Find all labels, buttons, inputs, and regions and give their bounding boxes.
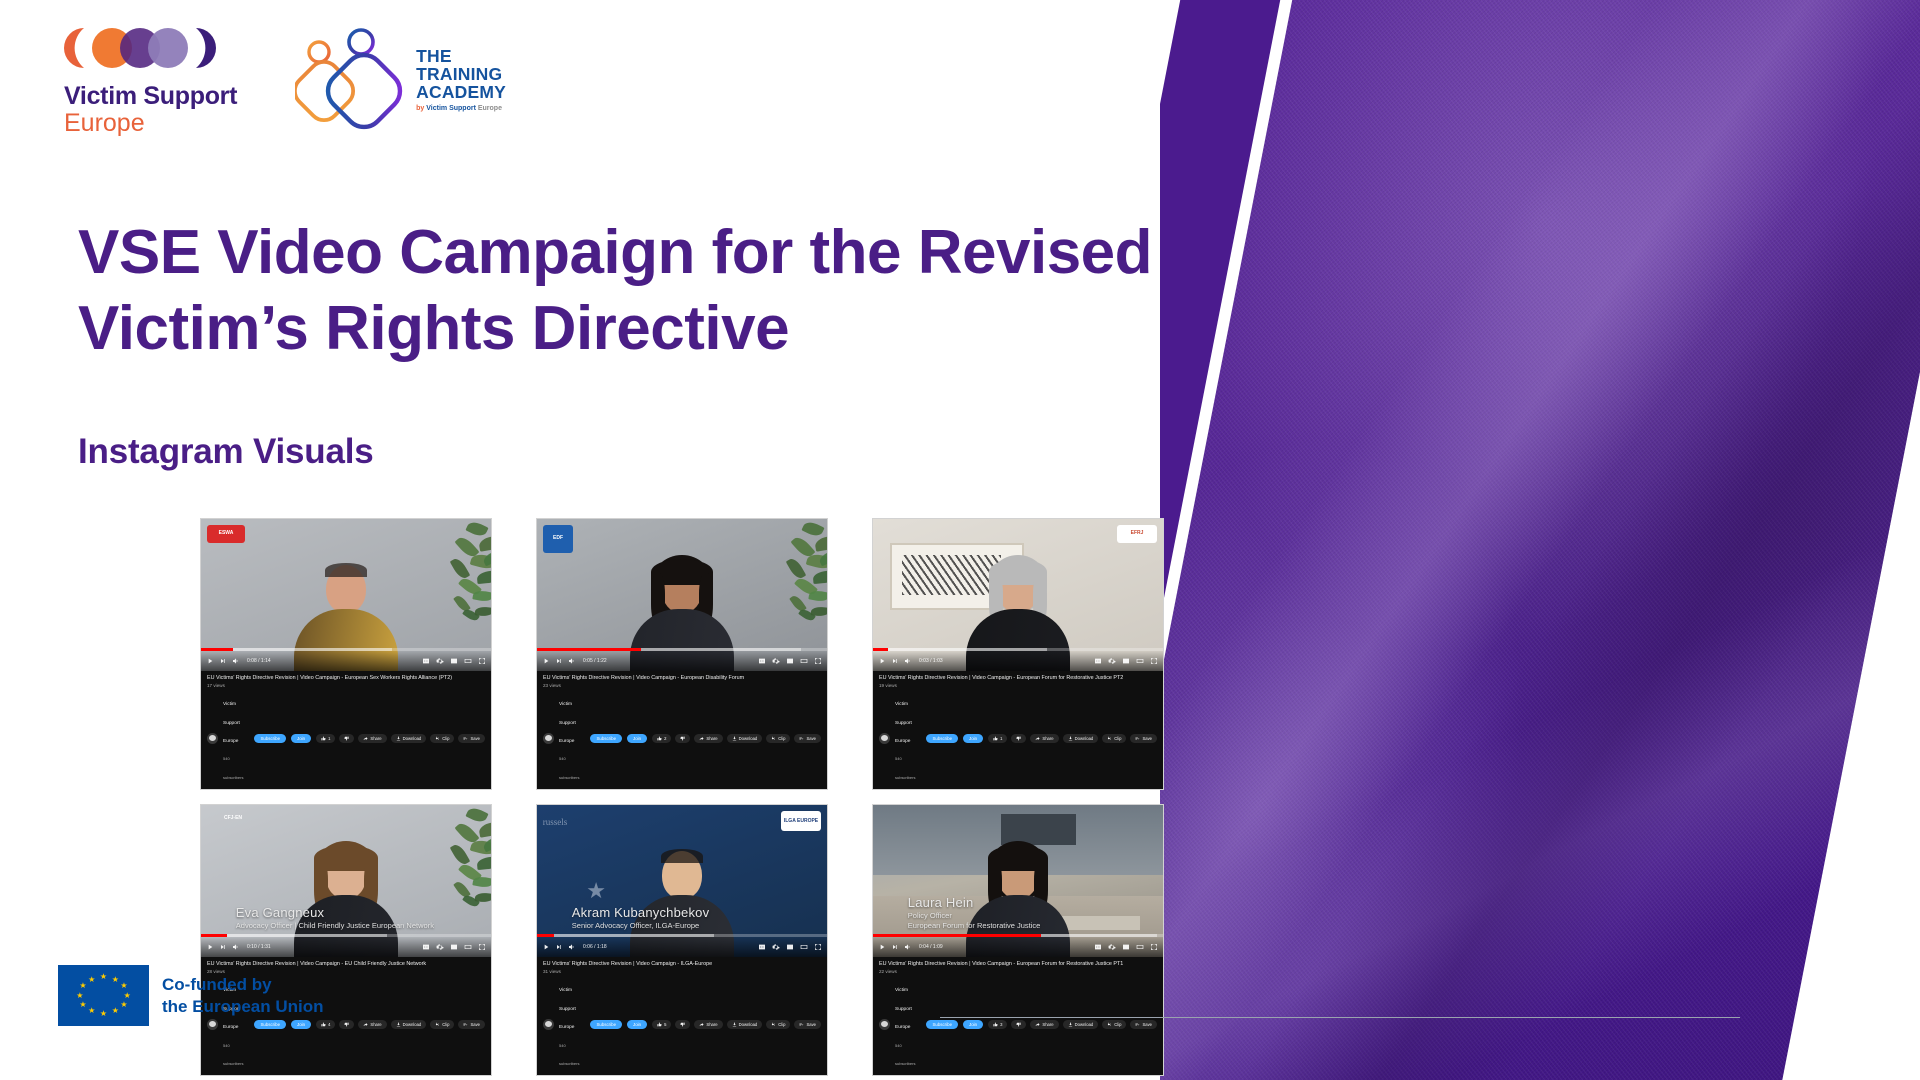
video-controls-right[interactable] [422, 943, 486, 951]
thumbs-down-icon [680, 1022, 685, 1027]
speaker-role-line: Policy Officer [908, 911, 1041, 920]
share-button[interactable]: Share [1030, 1020, 1058, 1029]
ta-byline-suffix: Europe [476, 105, 502, 112]
like-button[interactable]: 3 [988, 1020, 1007, 1029]
video-controls-right[interactable] [758, 657, 822, 665]
download-icon [732, 736, 737, 741]
save-button[interactable]: Save [794, 1020, 821, 1029]
share-button[interactable]: Share [358, 734, 386, 743]
video-thumbnail-grid: ESWA 0:08 / 1:14 EU Victims [200, 518, 1164, 1076]
download-button[interactable]: Download [391, 1020, 427, 1029]
save-button[interactable]: Save [1130, 1020, 1157, 1029]
theater-mode-icon[interactable] [800, 943, 808, 951]
subscribe-button[interactable]: Subscribe [926, 1020, 958, 1029]
video-view-count: 17 views [207, 683, 485, 688]
video-action-bar[interactable]: Victim Support Europe 540 subscribers Su… [873, 690, 1163, 789]
channel-avatar[interactable] [879, 733, 890, 744]
channel-info[interactable]: Victim Support Europe 540 subscribers [223, 692, 249, 784]
theater-mode-icon[interactable] [800, 657, 808, 665]
channel-subscriber-count: 540 subscribers [895, 1043, 915, 1066]
volume-icon[interactable] [568, 657, 576, 665]
video-timestamp: 0:04 / 1:09 [919, 944, 943, 950]
share-icon [363, 736, 368, 741]
partner-org-badge: ILGA EUROPE [781, 811, 821, 831]
video-action-bar[interactable]: Victim Support Europe 540 subscribers Su… [537, 976, 827, 1075]
video-action-bar[interactable]: Victim Support Europe 540 subscribers Su… [873, 976, 1163, 1075]
channel-info[interactable]: Victim Support Europe 540 subscribers [559, 692, 585, 784]
eu-star-icon: ★ [120, 1001, 127, 1009]
speaker-role-line: Advocacy Officer | Child Friendly Justic… [236, 921, 434, 930]
eu-star-icon: ★ [79, 982, 86, 990]
volume-icon[interactable] [232, 657, 240, 665]
next-icon[interactable] [891, 657, 899, 665]
like-button[interactable]: 1 [988, 734, 1007, 743]
captions-icon[interactable] [1094, 943, 1102, 951]
video-card[interactable]: EDF 0:05 / 1:22 EU Victims’ [536, 518, 828, 790]
eu-star-icon: ★ [76, 992, 83, 1000]
video-title[interactable]: EU Victims’ Rights Directive Revision | … [543, 961, 821, 968]
share-button[interactable]: Share [694, 1020, 722, 1029]
captions-icon[interactable] [1094, 657, 1102, 665]
victim-support-europe-logo: Victim Support Europe [64, 24, 237, 137]
video-title[interactable]: EU Victims’ Rights Directive Revision | … [879, 675, 1157, 682]
share-icon [1035, 1022, 1040, 1027]
eu-star-icon: ★ [112, 976, 119, 984]
settings-gear-icon[interactable] [1108, 943, 1116, 951]
logo-row: Victim Support Europe THE TRAININ [64, 24, 506, 137]
video-timestamp: 0:06 / 1:18 [583, 944, 607, 950]
dislike-button[interactable] [1011, 734, 1026, 743]
miniplayer-icon[interactable] [1122, 657, 1130, 665]
training-academy-logo: THE TRAINING ACADEMY by Victim Support E… [295, 26, 506, 134]
dislike-button[interactable] [675, 1020, 690, 1029]
join-button[interactable]: Join [291, 734, 311, 743]
clip-icon [771, 736, 776, 741]
ta-byline-prefix: by [416, 105, 426, 112]
settings-gear-icon[interactable] [772, 943, 780, 951]
fullscreen-icon[interactable] [814, 657, 822, 665]
video-title[interactable]: EU Victims’ Rights Directive Revision | … [543, 675, 821, 682]
save-icon [1135, 736, 1140, 741]
page-subtitle: Instagram Visuals [78, 432, 374, 472]
share-button[interactable]: Share [694, 734, 722, 743]
join-button[interactable]: Join [627, 734, 647, 743]
dislike-button[interactable] [339, 734, 354, 743]
channel-subscriber-count: 540 subscribers [223, 756, 243, 779]
fullscreen-icon[interactable] [478, 657, 486, 665]
share-button[interactable]: Share [1030, 734, 1058, 743]
video-controls-right[interactable] [422, 657, 486, 665]
channel-name: Victim Support Europe [559, 988, 576, 1030]
eu-cofunding-logo: ★★★★★★★★★★★★ Co-funded by the European U… [58, 965, 324, 1026]
clip-button[interactable]: Clip [430, 1020, 454, 1029]
clip-button[interactable]: Clip [766, 1020, 790, 1029]
play-icon[interactable] [878, 657, 886, 665]
partner-org-badge: ESWA [207, 525, 245, 543]
video-controls-row[interactable]: 0:06 / 1:18 [537, 937, 827, 957]
video-card[interactable]: CFJ-EN Eva GangneuxAdvocacy Officer | Ch… [200, 804, 492, 1076]
band-accent-stripe [1160, 0, 1288, 1080]
fullscreen-icon[interactable] [1150, 657, 1158, 665]
training-academy-mark-icon [295, 26, 407, 134]
channel-name: Victim Support Europe [559, 702, 576, 744]
eu-star-icon: ★ [88, 976, 95, 984]
eu-star-icon: ★ [120, 982, 127, 990]
speaker-role-line: European Forum for Restorative Justice [908, 921, 1041, 930]
miniplayer-icon[interactable] [450, 657, 458, 665]
speaker-name-overlay: Akram KubanychbekovSenior Advocacy Offic… [572, 905, 709, 930]
save-icon [463, 736, 468, 741]
share-icon [363, 1022, 368, 1027]
join-button[interactable]: Join [627, 1020, 647, 1029]
next-icon[interactable] [891, 943, 899, 951]
fullscreen-icon[interactable] [814, 943, 822, 951]
channel-info[interactable]: Victim Support Europe 540 subscribers [559, 978, 585, 1070]
channel-name: Victim Support Europe [895, 988, 912, 1030]
channel-info[interactable]: Victim Support Europe 540 subscribers [895, 978, 921, 1070]
video-view-count: 19 views [879, 683, 1157, 688]
settings-gear-icon[interactable] [436, 943, 444, 951]
channel-avatar[interactable] [543, 733, 554, 744]
fullscreen-icon[interactable] [1150, 943, 1158, 951]
captions-icon[interactable] [422, 943, 430, 951]
video-controls-row[interactable]: 0:03 / 1:03 [873, 651, 1163, 671]
save-button[interactable]: Save [458, 1020, 485, 1029]
play-icon[interactable] [542, 657, 550, 665]
training-academy-wordmark: THE TRAINING ACADEMY by Victim Support E… [416, 48, 506, 112]
video-action-right[interactable]: 5 Share Download Clip Save [652, 1020, 821, 1029]
video-meta: EU Victims’ Rights Directive Revision | … [201, 671, 491, 690]
share-icon [699, 736, 704, 741]
next-icon[interactable] [219, 943, 227, 951]
thumbs-up-icon [321, 736, 326, 741]
download-button[interactable]: Download [727, 734, 763, 743]
video-controls-row[interactable]: 0:05 / 1:22 [537, 651, 827, 671]
clip-button[interactable]: Clip [430, 734, 454, 743]
thumbs-down-icon [344, 1022, 349, 1027]
eu-star-icon: ★ [79, 1001, 86, 1009]
video-meta: EU Victims’ Rights Directive Revision | … [873, 671, 1163, 690]
channel-name: Victim Support Europe [895, 702, 912, 744]
play-icon[interactable] [542, 943, 550, 951]
eu-star-icon: ★ [88, 1007, 95, 1015]
volume-icon[interactable] [232, 943, 240, 951]
partner-org-badge: CFJ-EN [207, 811, 259, 825]
speaker-name: Eva Gangneux [236, 905, 434, 920]
eu-text-line2: the European Union [162, 996, 324, 1018]
video-player-stage[interactable]: ESWA 0:08 / 1:14 [201, 519, 491, 671]
speaker-hair-top [325, 563, 367, 577]
ta-byline-brand: Victim Support [426, 105, 476, 112]
subscribe-button[interactable]: Subscribe [254, 734, 286, 743]
clip-icon [1107, 1022, 1112, 1027]
download-button[interactable]: Download [727, 1020, 763, 1029]
video-timestamp: 0:08 / 1:14 [247, 658, 271, 664]
band-fabric-panel [1160, 0, 1920, 1080]
save-icon [463, 1022, 468, 1027]
volume-icon[interactable] [568, 943, 576, 951]
next-icon[interactable] [219, 657, 227, 665]
join-button[interactable]: Join [963, 1020, 983, 1029]
eu-flag-icon: ★★★★★★★★★★★★ [58, 965, 149, 1026]
video-meta: EU Victims’ Rights Directive Revision | … [537, 671, 827, 690]
next-icon[interactable] [555, 943, 563, 951]
eu-text-line1: Co-funded by [162, 974, 324, 996]
save-button[interactable]: Save [794, 734, 821, 743]
channel-avatar[interactable] [879, 1019, 890, 1030]
clip-icon [1107, 736, 1112, 741]
video-player-stage[interactable]: EDF 0:05 / 1:22 [537, 519, 827, 671]
like-button[interactable]: 1 [316, 734, 335, 743]
ta-line3: ACADEMY [416, 84, 506, 102]
dislike-button[interactable] [675, 734, 690, 743]
video-card[interactable]: russels★ILGA EUROPE Akram KubanychbekovS… [536, 804, 828, 1076]
miniplayer-icon[interactable] [1122, 943, 1130, 951]
video-player-stage[interactable]: Laura HeinPolicy OfficerEuropean Forum f… [873, 805, 1163, 957]
video-timestamp: 0:03 / 1:03 [919, 658, 943, 664]
clip-icon [435, 736, 440, 741]
subscribe-button[interactable]: Subscribe [926, 734, 958, 743]
theater-mode-icon[interactable] [464, 943, 472, 951]
clip-button[interactable]: Clip [766, 734, 790, 743]
thumbs-up-icon [993, 736, 998, 741]
theater-mode-icon[interactable] [464, 657, 472, 665]
save-icon [799, 1022, 804, 1027]
settings-gear-icon[interactable] [1108, 657, 1116, 665]
miniplayer-icon[interactable] [450, 943, 458, 951]
play-icon[interactable] [206, 657, 214, 665]
thumbs-up-icon [657, 736, 662, 741]
speaker-role-line: Senior Advocacy Officer, ILGA-Europe [572, 921, 709, 930]
channel-info[interactable]: Victim Support Europe 540 subscribers [895, 692, 921, 784]
thumbs-up-icon [993, 1022, 998, 1027]
eu-star-icon: ★ [112, 1007, 119, 1015]
video-timestamp: 0:05 / 1:22 [583, 658, 607, 664]
speaker-name: Akram Kubanychbekov [572, 905, 709, 920]
video-meta: EU Victims’ Rights Directive Revision | … [873, 957, 1163, 976]
clip-button[interactable]: Clip [1102, 734, 1126, 743]
save-icon [1135, 1022, 1140, 1027]
theater-mode-icon[interactable] [1136, 943, 1144, 951]
captions-icon[interactable] [758, 657, 766, 665]
download-button[interactable]: Download [1063, 734, 1099, 743]
video-controls-row[interactable]: 0:04 / 1:09 [873, 937, 1163, 957]
video-card[interactable]: EFRJ 0:03 / 1:03 EU Victims [872, 518, 1164, 790]
subscribe-button[interactable]: Subscribe [590, 1020, 622, 1029]
video-player-stage[interactable]: russels★ILGA EUROPE Akram KubanychbekovS… [537, 805, 827, 957]
download-icon [1068, 736, 1073, 741]
thumbs-up-icon [657, 1022, 662, 1027]
share-icon [1035, 736, 1040, 741]
vse-mark-icon [64, 24, 232, 72]
like-button[interactable]: 2 [652, 734, 671, 743]
clip-icon [435, 1022, 440, 1027]
channel-subscriber-count: 540 subscribers [559, 1043, 579, 1066]
clip-icon [771, 1022, 776, 1027]
video-controls-right[interactable] [1094, 657, 1158, 665]
settings-gear-icon[interactable] [772, 657, 780, 665]
speaker-name-overlay: Laura HeinPolicy OfficerEuropean Forum f… [908, 895, 1041, 930]
channel-avatar[interactable] [207, 733, 218, 744]
next-icon[interactable] [555, 657, 563, 665]
dislike-button[interactable] [1011, 1020, 1026, 1029]
video-view-count: 31 views [543, 969, 821, 974]
video-controls-right[interactable] [1094, 943, 1158, 951]
channel-subscriber-count: 540 subscribers [895, 756, 915, 779]
eu-star-icon: ★ [100, 1010, 107, 1018]
video-controls-right[interactable] [758, 943, 822, 951]
share-button[interactable]: Share [358, 1020, 386, 1029]
page-title: VSE Video Campaign for the Revised Victi… [78, 215, 1188, 366]
vse-logo-line1: Victim Support [64, 83, 237, 109]
download-icon [1068, 1022, 1073, 1027]
channel-avatar[interactable] [543, 1019, 554, 1030]
video-action-right[interactable]: 1 Share Download Clip Save [988, 734, 1157, 743]
video-action-right[interactable]: 2 Share Download Clip Save [652, 734, 821, 743]
captions-icon[interactable] [758, 943, 766, 951]
download-icon [396, 736, 401, 741]
save-button[interactable]: Save [1130, 734, 1157, 743]
video-meta: EU Victims’ Rights Directive Revision | … [537, 957, 827, 976]
speaker-name: Laura Hein [908, 895, 1041, 910]
save-button[interactable]: Save [458, 734, 485, 743]
video-view-count: 22 views [879, 969, 1157, 974]
eu-logo-text: Co-funded by the European Union [162, 974, 324, 1018]
stage-star-icon: ★ [586, 878, 606, 904]
thumbs-down-icon [1016, 736, 1021, 741]
save-icon [799, 736, 804, 741]
ta-byline: by Victim Support Europe [416, 105, 506, 112]
fullscreen-icon[interactable] [478, 943, 486, 951]
download-icon [732, 1022, 737, 1027]
video-card[interactable]: ESWA 0:08 / 1:14 EU Victims [200, 518, 492, 790]
thumbs-down-icon [680, 736, 685, 741]
channel-subscriber-count: 540 subscribers [559, 756, 579, 779]
like-button[interactable]: 5 [652, 1020, 671, 1029]
download-icon [396, 1022, 401, 1027]
miniplayer-icon[interactable] [786, 657, 794, 665]
download-button[interactable]: Download [1063, 1020, 1099, 1029]
play-icon[interactable] [206, 943, 214, 951]
video-card[interactable]: Laura HeinPolicy OfficerEuropean Forum f… [872, 804, 1164, 1076]
theater-mode-icon[interactable] [1136, 657, 1144, 665]
video-title[interactable]: EU Victims’ Rights Directive Revision | … [207, 675, 485, 682]
eu-star-icon: ★ [100, 973, 107, 981]
partner-org-badge: EFRJ [1117, 525, 1157, 543]
dislike-button[interactable] [339, 1020, 354, 1029]
video-timestamp: 0:10 / 1:31 [247, 944, 271, 950]
decorative-purple-band [1160, 0, 1920, 1080]
share-icon [699, 1022, 704, 1027]
volume-icon[interactable] [904, 943, 912, 951]
vse-logo-line2: Europe [64, 110, 237, 136]
speaker-name-overlay: Eva GangneuxAdvocacy Officer | Child Fri… [236, 905, 434, 930]
video-action-bar[interactable]: Victim Support Europe 540 subscribers Su… [201, 690, 491, 789]
miniplayer-icon[interactable] [786, 943, 794, 951]
channel-name: Victim Support Europe [223, 702, 240, 744]
speaker-hair-top [661, 849, 703, 863]
band-texture-overlay [1160, 0, 1920, 1080]
video-player-stage[interactable]: EFRJ 0:03 / 1:03 [873, 519, 1163, 671]
channel-subscriber-count: 540 subscribers [223, 1043, 243, 1066]
settings-gear-icon[interactable] [436, 657, 444, 665]
join-button[interactable]: Join [963, 734, 983, 743]
subscribe-button[interactable]: Subscribe [590, 734, 622, 743]
video-player-stage[interactable]: CFJ-EN Eva GangneuxAdvocacy Officer | Ch… [201, 805, 491, 957]
clip-button[interactable]: Clip [1102, 1020, 1126, 1029]
partner-org-badge: EDF [543, 525, 573, 553]
video-action-bar[interactable]: Victim Support Europe 540 subscribers Su… [537, 690, 827, 789]
thumbs-down-icon [344, 736, 349, 741]
eu-star-icon: ★ [124, 992, 131, 1000]
volume-icon[interactable] [904, 657, 912, 665]
band-fold-highlights [1160, 0, 1920, 1080]
video-controls-row[interactable]: 0:08 / 1:14 [201, 651, 491, 671]
video-action-right[interactable]: 1 Share Download Clip Save [316, 734, 485, 743]
video-controls-row[interactable]: 0:10 / 1:31 [201, 937, 491, 957]
download-button[interactable]: Download [391, 734, 427, 743]
captions-icon[interactable] [422, 657, 430, 665]
video-action-right[interactable]: 4 Share Download Clip Save [316, 1020, 485, 1029]
video-action-right[interactable]: 3 Share Download Clip Save [988, 1020, 1157, 1029]
footer-divider [940, 1017, 1740, 1018]
play-icon[interactable] [878, 943, 886, 951]
thumbs-down-icon [1016, 1022, 1021, 1027]
video-title[interactable]: EU Victims’ Rights Directive Revision | … [879, 961, 1157, 968]
video-view-count: 23 views [543, 683, 821, 688]
